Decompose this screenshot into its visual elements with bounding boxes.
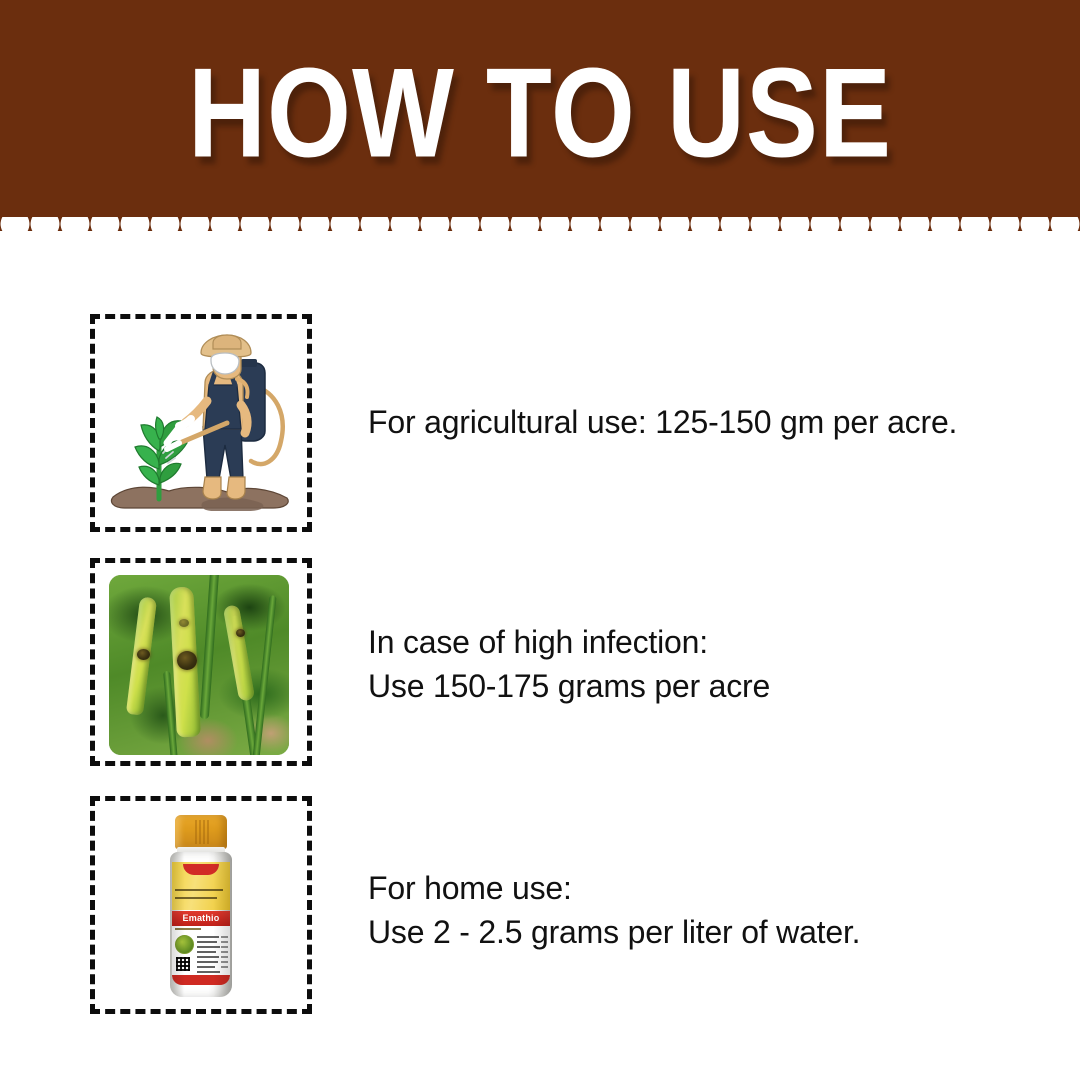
- farmer-spraying-icon: [95, 319, 307, 527]
- spec-value: [221, 946, 228, 948]
- composition-line: [175, 897, 217, 899]
- spec-value: [221, 966, 228, 968]
- spec-row: [197, 956, 219, 958]
- spec-row: [197, 951, 216, 953]
- spec-row: [197, 971, 220, 973]
- spec-value: [221, 941, 228, 943]
- product-bottle: Emathio: [163, 815, 239, 997]
- bottle-cap: [175, 815, 227, 849]
- brand-name: Emathio: [183, 914, 220, 923]
- thumbnail-frame-infected-chili: [90, 558, 312, 766]
- qr-code-icon: [175, 956, 191, 972]
- caption-line: In case of high infection:: [368, 620, 770, 664]
- label-swoosh-graphic: [183, 864, 219, 875]
- caption-agricultural-use: For agricultural use: 125-150 gm per acr…: [368, 400, 957, 444]
- caption-line: For home use:: [368, 866, 860, 910]
- caption-home-use: For home use: Use 2 - 2.5 grams per lite…: [368, 866, 860, 954]
- pest-damage-lesion: [137, 649, 150, 660]
- crop-thumbnail-icon: [175, 935, 194, 954]
- spec-row: [197, 936, 219, 938]
- page-title: HOW TO USE: [0, 0, 1080, 245]
- spec-value: [221, 951, 228, 953]
- product-subtitle-line: [175, 928, 201, 930]
- caption-line: Use 150-175 grams per acre: [368, 664, 770, 708]
- pest-damage-lesion: [236, 629, 245, 637]
- scalloped-divider-base: [0, 231, 1080, 245]
- pest-damage-lesion: [177, 651, 197, 670]
- spec-row: [197, 966, 215, 968]
- thumbnail-frame-farmer: [90, 314, 312, 532]
- caption-line: For agricultural use: 125-150 gm per acr…: [368, 400, 957, 444]
- spec-row: [197, 946, 220, 948]
- emathio-product-bottle: Emathio: [95, 801, 307, 1009]
- spec-value: [221, 936, 228, 938]
- brand-name-band: Emathio: [172, 911, 230, 926]
- pest-damage-lesion: [179, 619, 189, 627]
- spec-row: [197, 961, 218, 963]
- spec-value: [221, 956, 228, 958]
- thumbnail-frame-product: Emathio: [90, 796, 312, 1014]
- label-footer-band: [172, 975, 230, 985]
- caption-high-infection: In case of high infection: Use 150-175 g…: [368, 620, 770, 708]
- farmer-spraying-illustration: [95, 319, 307, 527]
- spec-value: [221, 961, 228, 963]
- spec-row: [197, 941, 217, 943]
- infected-chili-photo: [95, 563, 307, 761]
- chili-plant-image: [109, 575, 289, 755]
- header-band: HOW TO USE: [0, 0, 1080, 232]
- composition-line: [175, 889, 223, 891]
- caption-line: Use 2 - 2.5 grams per liter of water.: [368, 910, 860, 954]
